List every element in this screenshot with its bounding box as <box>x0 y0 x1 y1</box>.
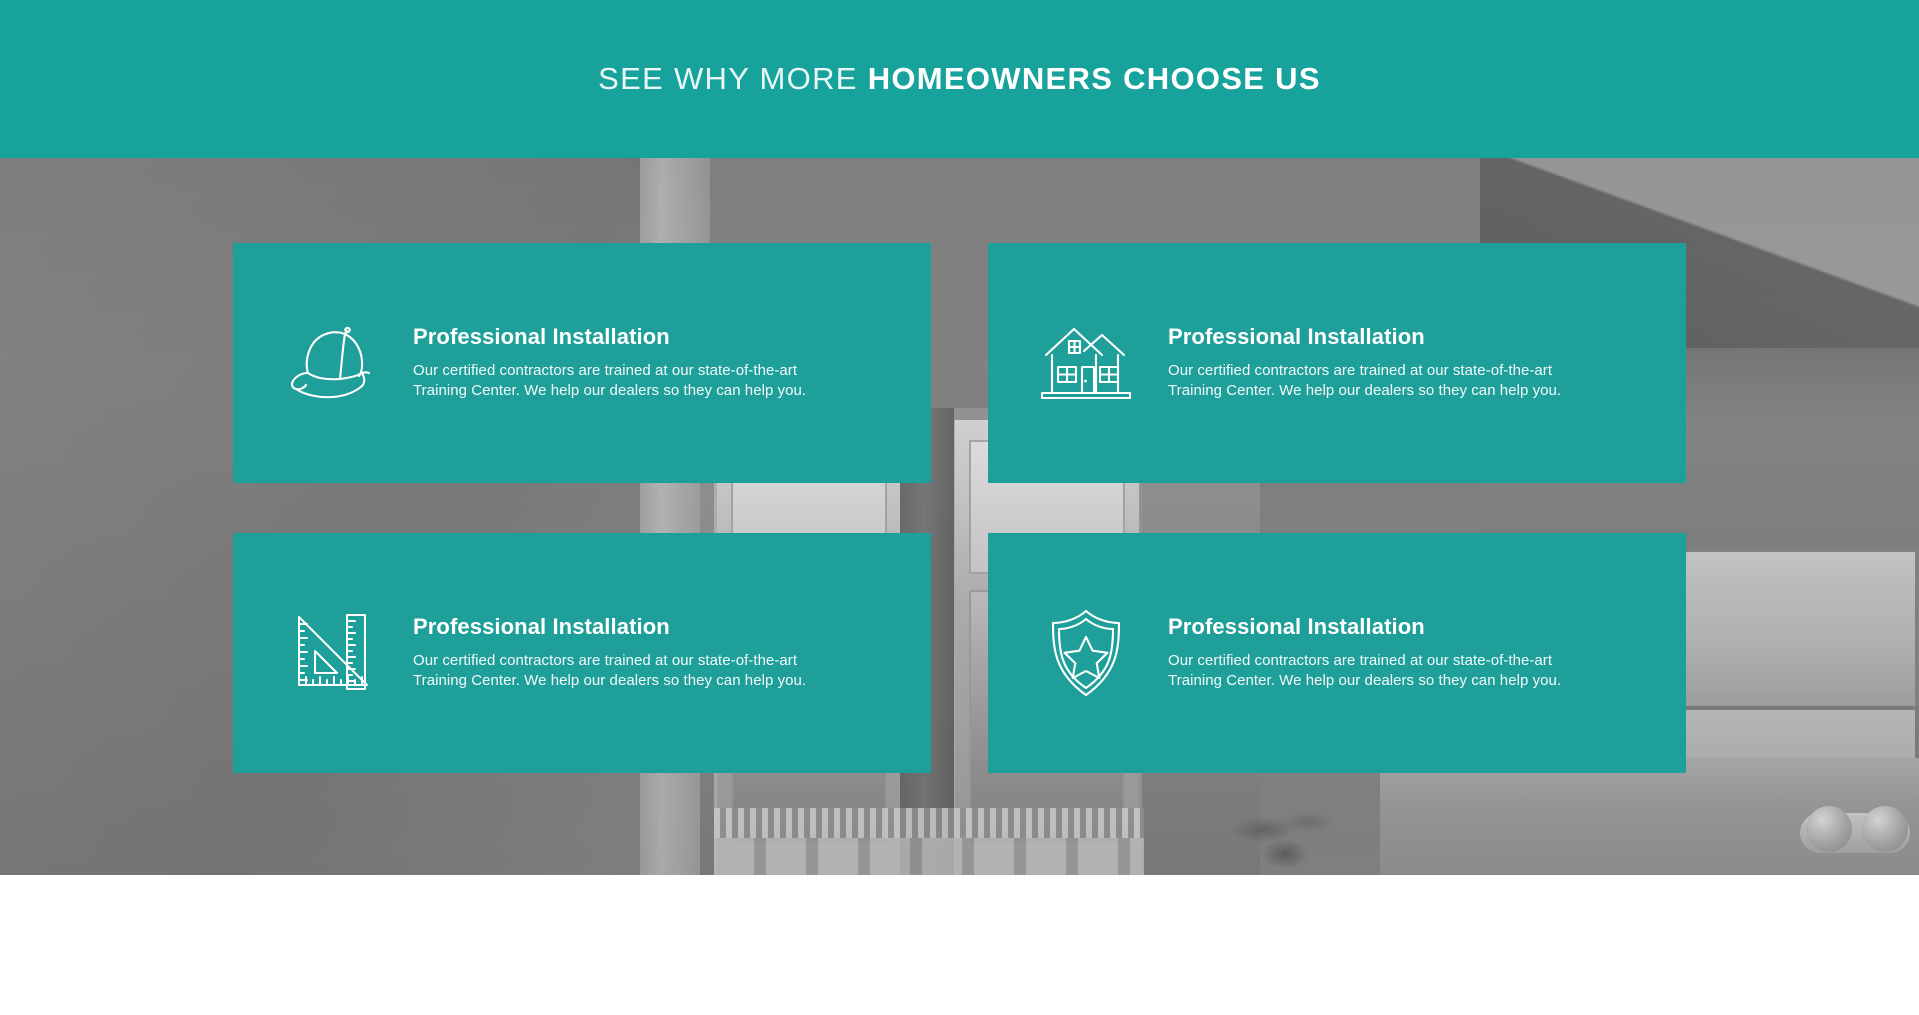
shield-star-icon <box>1030 597 1142 709</box>
page-title-bold: HOMEOWNERS CHOOSE US <box>868 61 1321 96</box>
feature-card-professional-installation-2[interactable]: Professional Installation Our certified … <box>988 243 1686 483</box>
feature-card-body: Professional Installation Our certified … <box>1168 324 1652 401</box>
footer-whitespace <box>0 875 1919 1015</box>
page-root: SEE WHY MORE HOMEOWNERS CHOOSE US <box>0 0 1919 1015</box>
feature-card-body: Professional Installation Our certified … <box>413 324 897 401</box>
feature-card-description: Our certified contractors are trained at… <box>1168 651 1568 692</box>
feature-card-professional-installation-4[interactable]: Professional Installation Our certified … <box>988 533 1686 773</box>
feature-card-body: Professional Installation Our certified … <box>413 614 897 691</box>
feature-card-professional-installation-3[interactable]: Professional Installation Our certified … <box>233 533 931 773</box>
feature-card-description: Our certified contractors are trained at… <box>1168 361 1568 402</box>
section-hero: Professional Installation Our certified … <box>0 158 1919 875</box>
baseball-cap-icon <box>275 307 387 419</box>
page-title: SEE WHY MORE HOMEOWNERS CHOOSE US <box>598 61 1321 97</box>
feature-card-grid: Professional Installation Our certified … <box>233 243 1686 773</box>
page-title-light: SEE WHY MORE <box>598 61 858 96</box>
feature-card-description: Our certified contractors are trained at… <box>413 651 813 692</box>
section-header-band: SEE WHY MORE HOMEOWNERS CHOOSE US <box>0 0 1919 158</box>
feature-card-title: Professional Installation <box>413 324 897 349</box>
feature-card-title: Professional Installation <box>1168 614 1652 639</box>
house-icon <box>1030 307 1142 419</box>
feature-card-body: Professional Installation Our certified … <box>1168 614 1652 691</box>
feature-card-description: Our certified contractors are trained at… <box>413 361 813 402</box>
feature-card-title: Professional Installation <box>413 614 897 639</box>
ruler-set-square-icon <box>275 597 387 709</box>
feature-card-title: Professional Installation <box>1168 324 1652 349</box>
feature-card-professional-installation-1[interactable]: Professional Installation Our certified … <box>233 243 931 483</box>
